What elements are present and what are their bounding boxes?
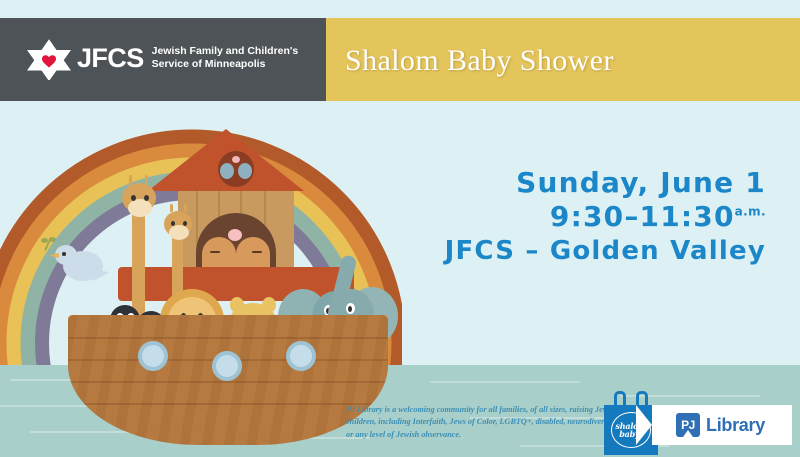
jfcs-tagline-line1: Jewish Family and Children's <box>152 45 299 58</box>
fineprint-text: PJ Library is a welcoming community for … <box>346 404 624 441</box>
jfcs-tagline: Jewish Family and Children's Service of … <box>152 45 299 71</box>
porthole-3 <box>286 341 316 371</box>
event-location: JFCS – Golden Valley <box>445 234 766 269</box>
ark-cabin <box>178 191 294 273</box>
event-time-value: 9:30–11:30 <box>550 200 735 233</box>
bird-right-icon <box>238 163 252 179</box>
pj-library-banner: PJ Library <box>652 405 792 445</box>
event-date: Sunday, June 1 <box>445 167 766 199</box>
bird-left-icon <box>220 163 234 179</box>
noahs-ark <box>60 129 400 439</box>
heart-icon <box>232 156 240 163</box>
star-of-david-icon <box>27 36 71 80</box>
event-details: Sunday, June 1 9:30–11:30a.m. JFCS – Gol… <box>445 167 766 269</box>
event-time-suffix: a.m. <box>735 205 766 219</box>
jfcs-tagline-line2: Service of Minneapolis <box>152 58 299 71</box>
pj-book-icon: PJ <box>676 413 700 437</box>
event-time: 9:30–11:30a.m. <box>445 199 766 234</box>
event-title: Shalom Baby Shower <box>345 44 614 78</box>
ark-roof-window <box>218 151 254 187</box>
partner-logos: shalom baby! PJ Library <box>600 391 792 455</box>
banner-arrow-icon <box>636 405 652 445</box>
event-flyer: JFCS Jewish Family and Children's Servic… <box>0 0 800 457</box>
porthole-1 <box>138 341 168 371</box>
porthole-2 <box>212 351 242 381</box>
heart-icon <box>228 229 242 241</box>
pj-mark: PJ <box>681 418 695 432</box>
jfcs-acronym: JFCS <box>77 43 144 74</box>
jfcs-logo: JFCS Jewish Family and Children's Servic… <box>27 36 298 80</box>
pj-library-word: Library <box>706 415 765 436</box>
